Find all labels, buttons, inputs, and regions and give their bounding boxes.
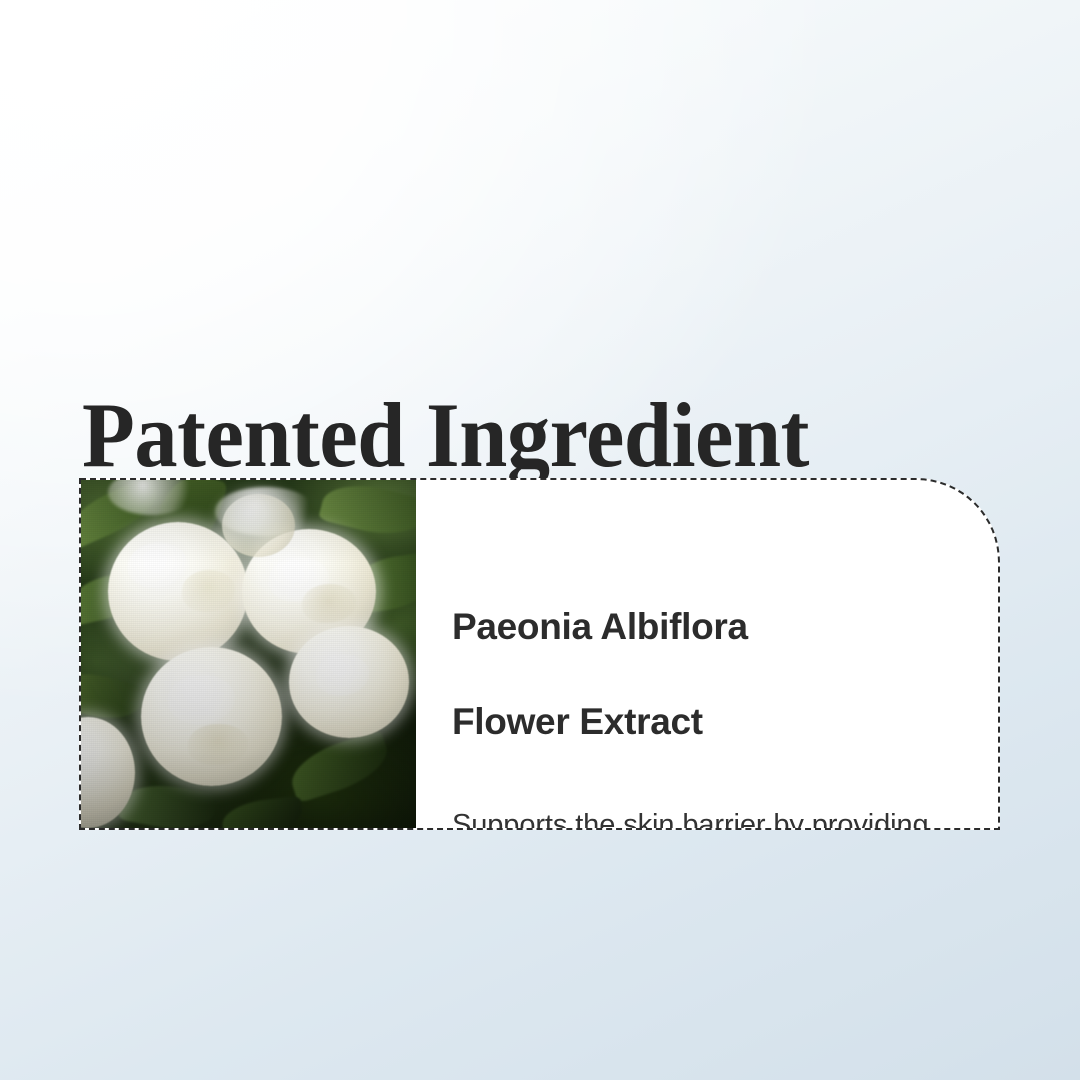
ingredient-description: Supports the skin barrier by providing a… xyxy=(452,761,972,830)
ingredient-text-panel: Paeonia Albiflora Flower Extract Support… xyxy=(416,480,998,828)
ingredient-name-line-1: Paeonia Albiflora xyxy=(452,606,748,647)
peony-flower-photo xyxy=(81,480,416,828)
photo-canvas xyxy=(81,480,416,828)
photo-grain xyxy=(81,480,416,828)
ingredient-name-line-2: Flower Extract xyxy=(452,701,703,742)
ingredient-name: Paeonia Albiflora Flower Extract xyxy=(452,556,998,745)
promo-page: Patented Ingredient for Skin Barrier xyxy=(0,0,1080,1080)
page-title-line-1: Patented Ingredient xyxy=(82,387,928,485)
ingredient-description-line-1: Supports the skin barrier by providing xyxy=(452,809,929,830)
ingredient-card: Paeonia Albiflora Flower Extract Support… xyxy=(79,478,1000,830)
